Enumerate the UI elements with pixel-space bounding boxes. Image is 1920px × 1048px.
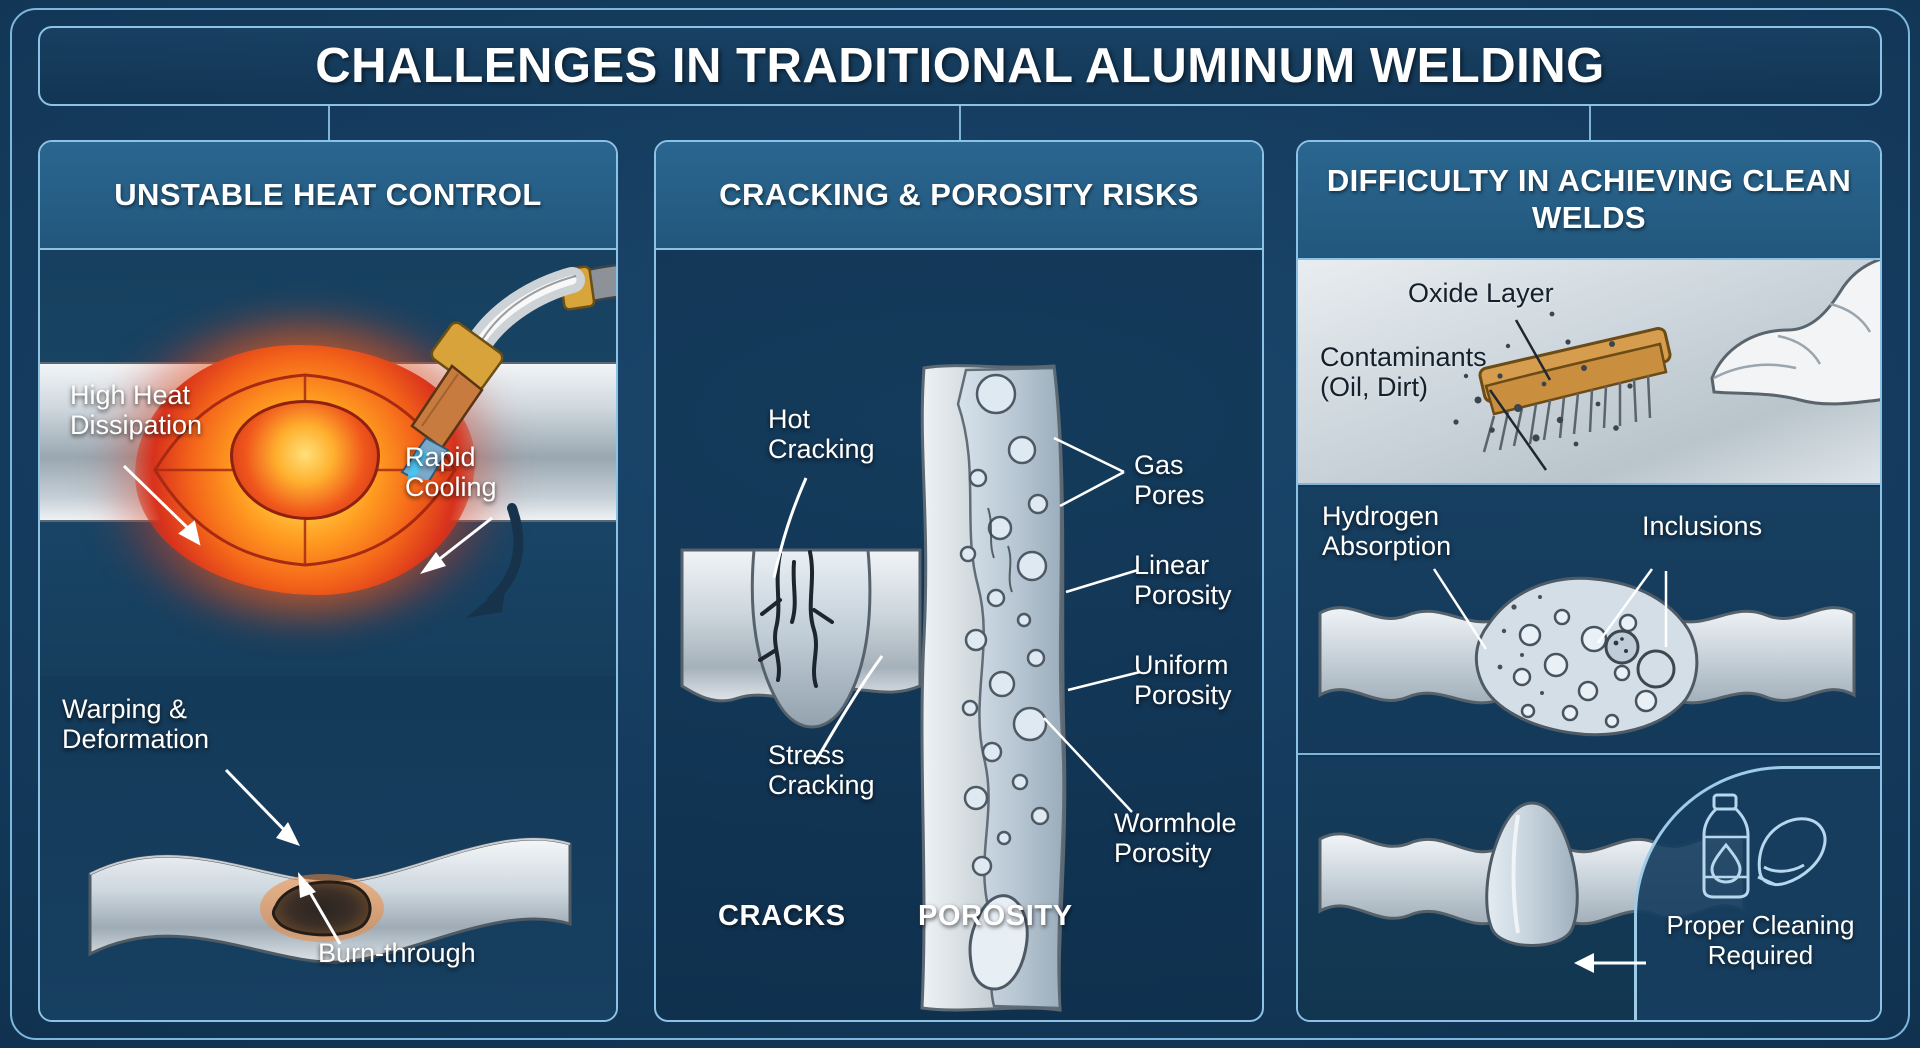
caption-cracks: CRACKS: [718, 900, 846, 933]
title-banner: CHALLENGES IN TRADITIONAL ALUMINUM WELDI…: [38, 26, 1882, 106]
label-contaminants: Contaminants (Oil, Dirt): [1320, 342, 1487, 402]
panel-cracking-porosity-risks[interactable]: CRACKING & POROSITY RISKS: [654, 140, 1264, 1022]
connector-line-panel3: [1589, 106, 1591, 140]
caption-porosity: POROSITY: [918, 900, 1073, 933]
panel-unstable-heat-control[interactable]: UNSTABLE HEAT CONTROL: [38, 140, 618, 1022]
panel3-header-text: DIFFICULTY IN ACHIEVING CLEAN WELDS: [1312, 163, 1866, 236]
label-warping-deformation: Warping & Deformation: [62, 694, 209, 754]
label-uniform-porosity: Uniform Porosity: [1134, 650, 1232, 710]
cooling-arrow-icon: [440, 500, 550, 630]
page-title: CHALLENGES IN TRADITIONAL ALUMINUM WELDI…: [315, 38, 1604, 94]
panel2-header-text: CRACKING & POROSITY RISKS: [719, 177, 1199, 214]
infographic-root: CHALLENGES IN TRADITIONAL ALUMINUM WELDI…: [0, 0, 1920, 1048]
leader-line-wormhole-porosity: [1020, 702, 1140, 822]
warping-scene: Warping & Deformation Burn-through: [40, 676, 616, 1020]
clean-weld-scene: Proper Cleaning Required: [1298, 757, 1880, 1020]
leader-line-oxide-layer: [1508, 316, 1568, 396]
leader-line-linear-porosity: [1054, 558, 1144, 608]
connector-line-panel2: [959, 106, 961, 140]
leader-line-contaminants: [1484, 386, 1564, 476]
label-inclusions: Inclusions: [1642, 511, 1762, 541]
label-linear-porosity: Linear Porosity: [1134, 550, 1232, 610]
badge-label-proper-cleaning: Proper Cleaning Required: [1637, 911, 1882, 970]
connector-line-panel1: [328, 106, 330, 140]
contaminated-weld-scene: Hydrogen Absorption Inclusions: [1298, 487, 1880, 755]
panel1-header-text: UNSTABLE HEAT CONTROL: [114, 177, 541, 214]
leader-line-gas-pores: [998, 420, 1128, 520]
panel3-header: DIFFICULTY IN ACHIEVING CLEAN WELDS: [1298, 142, 1880, 260]
leader-line-hydrogen: [1428, 565, 1508, 655]
panel3-body: Oxide Layer Contaminants (Oil, Dirt): [1298, 260, 1880, 1020]
label-hydrogen-absorption: Hydrogen Absorption: [1322, 501, 1451, 561]
spray-bottle-and-cloth-icon: [1686, 791, 1836, 901]
panel1-header: UNSTABLE HEAT CONTROL: [40, 142, 616, 250]
panel2-body: Hot Cracking Stress Cracking: [656, 250, 1262, 1020]
label-high-heat-dissipation: High Heat Dissipation: [70, 380, 202, 440]
leader-arrow-burn-through: [284, 868, 374, 958]
leader-arrow-proper-cleaning: [1560, 943, 1650, 983]
panel2-header: CRACKING & POROSITY RISKS: [656, 142, 1262, 250]
leader-line-inclusions: [1580, 565, 1670, 655]
leader-line-hot-cracking: [756, 474, 826, 584]
panel1-body: High Heat Dissipation Rapid Cooling: [40, 250, 616, 1020]
leader-line-stress-cracking: [804, 650, 894, 770]
heat-scene: High Heat Dissipation Rapid Cooling: [40, 250, 616, 680]
leader-arrow-warping: [220, 764, 350, 884]
label-oxide-layer: Oxide Layer: [1408, 278, 1554, 308]
leader-line-uniform-porosity: [1056, 658, 1146, 708]
oxide-cleaning-scene: Oxide Layer Contaminants (Oil, Dirt): [1298, 260, 1880, 485]
leader-arrow-high-heat: [118, 462, 238, 572]
label-hot-cracking: Hot Cracking: [768, 404, 875, 464]
label-gas-pores: Gas Pores: [1134, 450, 1205, 510]
label-rapid-cooling: Rapid Cooling: [405, 442, 497, 502]
panel-difficulty-clean-welds[interactable]: DIFFICULTY IN ACHIEVING CLEAN WELDS: [1296, 140, 1882, 1022]
